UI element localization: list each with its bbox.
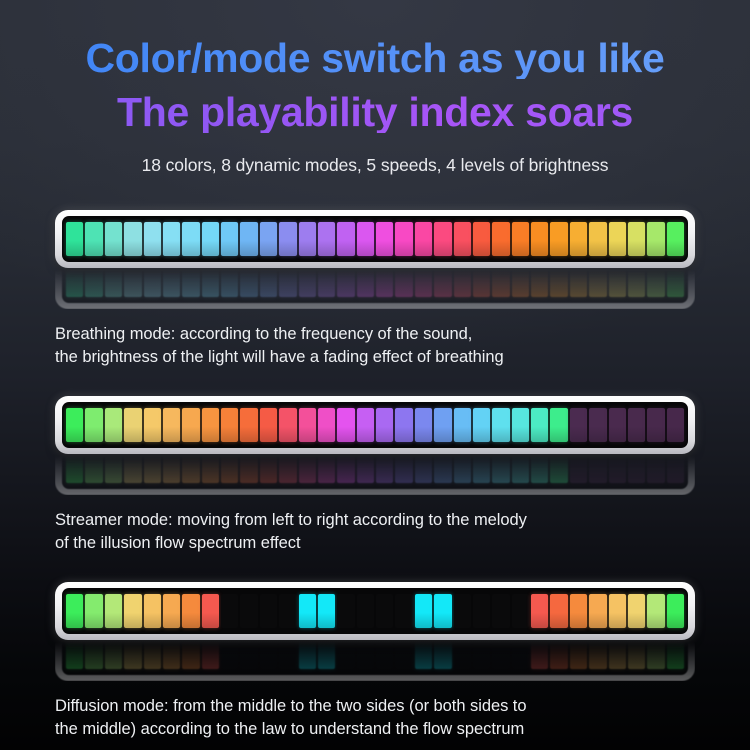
led-segment bbox=[299, 455, 316, 483]
led-segment bbox=[85, 594, 102, 628]
led-bar-frame bbox=[55, 582, 695, 640]
led-segment bbox=[628, 269, 645, 297]
led-segment bbox=[395, 641, 412, 669]
headline-secondary: The playability index soars bbox=[0, 92, 750, 133]
mode-caption-breathing: Breathing mode: according to the frequen… bbox=[55, 323, 695, 370]
led-segment bbox=[415, 408, 432, 442]
led-segment bbox=[144, 269, 161, 297]
feature-subtitle: 18 colors, 8 dynamic modes, 5 speeds, 4 … bbox=[0, 155, 750, 176]
led-segment bbox=[589, 641, 606, 669]
led-segment bbox=[144, 408, 161, 442]
led-segment bbox=[182, 455, 199, 483]
led-segment bbox=[492, 594, 509, 628]
led-segment bbox=[647, 594, 664, 628]
led-segment bbox=[240, 594, 257, 628]
led-segment bbox=[240, 641, 257, 669]
led-segment bbox=[376, 408, 393, 442]
led-segment bbox=[260, 641, 277, 669]
mode-caption-diffusion: Diffusion mode: from the middle to the t… bbox=[55, 695, 695, 742]
led-segment bbox=[628, 455, 645, 483]
led-segment bbox=[299, 269, 316, 297]
led-segment bbox=[434, 408, 451, 442]
led-segment bbox=[163, 594, 180, 628]
led-segment bbox=[609, 269, 626, 297]
led-segment bbox=[279, 408, 296, 442]
led-segment bbox=[163, 222, 180, 256]
led-segment bbox=[647, 408, 664, 442]
led-segment bbox=[473, 641, 490, 669]
led-segment bbox=[105, 222, 122, 256]
led-segment bbox=[550, 594, 567, 628]
led-segment bbox=[202, 594, 219, 628]
led-segment bbox=[531, 594, 548, 628]
led-segment bbox=[85, 408, 102, 442]
led-segment bbox=[163, 408, 180, 442]
led-segment bbox=[337, 408, 354, 442]
led-segment bbox=[628, 641, 645, 669]
led-segment bbox=[318, 594, 335, 628]
led-bar-reflection bbox=[55, 641, 695, 681]
led-segment bbox=[454, 222, 471, 256]
led-segment bbox=[260, 269, 277, 297]
led-segment bbox=[628, 222, 645, 256]
led-segment bbox=[647, 269, 664, 297]
led-segment bbox=[279, 455, 296, 483]
led-segment bbox=[395, 408, 412, 442]
led-segment bbox=[570, 641, 587, 669]
led-segment bbox=[299, 222, 316, 256]
led-bar-frame-mirror bbox=[55, 269, 695, 309]
led-segment bbox=[66, 269, 83, 297]
led-segment bbox=[531, 455, 548, 483]
led-segment bbox=[124, 641, 141, 669]
led-segment bbox=[473, 594, 490, 628]
led-segment bbox=[454, 455, 471, 483]
led-segment bbox=[415, 455, 432, 483]
led-segment bbox=[609, 408, 626, 442]
led-segment bbox=[202, 641, 219, 669]
led-segment bbox=[492, 222, 509, 256]
led-segment bbox=[105, 641, 122, 669]
led-segment bbox=[415, 269, 432, 297]
led-segment bbox=[550, 408, 567, 442]
led-bar-frame bbox=[55, 210, 695, 268]
led-segment bbox=[609, 594, 626, 628]
led-segment bbox=[531, 222, 548, 256]
led-segment bbox=[609, 222, 626, 256]
led-segment-strip bbox=[62, 216, 688, 262]
led-segment bbox=[240, 269, 257, 297]
led-segment bbox=[105, 594, 122, 628]
led-segment bbox=[318, 222, 335, 256]
led-segment bbox=[395, 455, 412, 483]
led-segment bbox=[144, 641, 161, 669]
led-segment bbox=[376, 455, 393, 483]
led-segment bbox=[415, 641, 432, 669]
led-segment bbox=[589, 455, 606, 483]
led-segment bbox=[85, 641, 102, 669]
led-segment bbox=[66, 455, 83, 483]
led-segment bbox=[454, 594, 471, 628]
led-segment bbox=[66, 222, 83, 256]
led-segment bbox=[66, 594, 83, 628]
led-segment bbox=[144, 594, 161, 628]
led-segment bbox=[609, 641, 626, 669]
led-segment bbox=[512, 455, 529, 483]
led-segment bbox=[105, 408, 122, 442]
led-segment bbox=[492, 408, 509, 442]
led-segment bbox=[85, 222, 102, 256]
led-segment bbox=[434, 269, 451, 297]
led-segment bbox=[492, 641, 509, 669]
led-segment bbox=[550, 222, 567, 256]
led-segment bbox=[221, 641, 238, 669]
led-segment bbox=[66, 408, 83, 442]
headline-primary: Color/mode switch as you like bbox=[0, 38, 750, 79]
led-segment bbox=[66, 641, 83, 669]
led-segment bbox=[667, 594, 684, 628]
led-segment bbox=[221, 269, 238, 297]
header: Color/mode switch as you like The playab… bbox=[0, 0, 750, 176]
led-bar-reflection bbox=[55, 269, 695, 309]
led-segment bbox=[570, 408, 587, 442]
led-segment bbox=[260, 408, 277, 442]
led-segment bbox=[85, 269, 102, 297]
led-segment bbox=[531, 641, 548, 669]
led-segment bbox=[531, 269, 548, 297]
led-segment bbox=[124, 269, 141, 297]
led-segment bbox=[434, 641, 451, 669]
led-segment bbox=[182, 222, 199, 256]
led-segment bbox=[318, 408, 335, 442]
led-segment bbox=[473, 408, 490, 442]
led-segment bbox=[337, 594, 354, 628]
led-segment bbox=[337, 641, 354, 669]
led-segment bbox=[667, 641, 684, 669]
led-segment bbox=[318, 269, 335, 297]
led-segment bbox=[434, 222, 451, 256]
led-segment bbox=[395, 269, 412, 297]
led-segment bbox=[550, 641, 567, 669]
led-segment bbox=[202, 222, 219, 256]
led-segment bbox=[647, 641, 664, 669]
led-segment bbox=[202, 408, 219, 442]
led-segment bbox=[570, 222, 587, 256]
led-segment bbox=[182, 408, 199, 442]
led-segment bbox=[512, 594, 529, 628]
led-segment bbox=[240, 455, 257, 483]
led-segment bbox=[221, 455, 238, 483]
led-segment bbox=[260, 594, 277, 628]
led-segment bbox=[260, 222, 277, 256]
led-segment-strip-mirror bbox=[62, 269, 688, 303]
mode-diffusion: Diffusion mode: from the middle to the t… bbox=[0, 582, 750, 742]
led-segment bbox=[124, 594, 141, 628]
led-segment bbox=[105, 269, 122, 297]
led-bar-breathing bbox=[55, 210, 695, 268]
led-segment bbox=[376, 641, 393, 669]
led-segment bbox=[279, 641, 296, 669]
led-segment bbox=[570, 269, 587, 297]
led-segment bbox=[202, 269, 219, 297]
led-segment bbox=[395, 222, 412, 256]
led-segment bbox=[667, 269, 684, 297]
led-segment bbox=[473, 222, 490, 256]
mode-streamer: Streamer mode: moving from left to right… bbox=[0, 396, 750, 556]
led-segment bbox=[512, 222, 529, 256]
led-segment bbox=[318, 455, 335, 483]
led-bar-frame-mirror bbox=[55, 641, 695, 681]
led-segment bbox=[454, 641, 471, 669]
led-segment bbox=[550, 269, 567, 297]
led-segment bbox=[202, 455, 219, 483]
led-segment bbox=[357, 594, 374, 628]
led-segment bbox=[647, 455, 664, 483]
led-segment bbox=[124, 455, 141, 483]
led-segment bbox=[589, 222, 606, 256]
led-segment bbox=[550, 455, 567, 483]
led-segment bbox=[337, 222, 354, 256]
led-segment bbox=[240, 408, 257, 442]
led-bar-diffusion bbox=[55, 582, 695, 640]
led-segment bbox=[512, 408, 529, 442]
led-segment bbox=[182, 269, 199, 297]
led-bar-frame bbox=[55, 396, 695, 454]
mode-breathing: Breathing mode: according to the frequen… bbox=[0, 210, 750, 370]
led-bar-frame-mirror bbox=[55, 455, 695, 495]
led-segment-strip bbox=[62, 588, 688, 634]
led-bar-reflection bbox=[55, 455, 695, 495]
led-segment bbox=[357, 222, 374, 256]
led-segment bbox=[473, 455, 490, 483]
led-segment bbox=[85, 455, 102, 483]
led-segment bbox=[531, 408, 548, 442]
led-segment bbox=[434, 594, 451, 628]
led-segment bbox=[124, 408, 141, 442]
led-segment bbox=[589, 594, 606, 628]
led-bar-streamer bbox=[55, 396, 695, 454]
led-segment bbox=[279, 594, 296, 628]
led-segment bbox=[376, 269, 393, 297]
led-segment bbox=[473, 269, 490, 297]
led-segment bbox=[357, 269, 374, 297]
led-segment bbox=[667, 455, 684, 483]
led-segment bbox=[454, 269, 471, 297]
led-segment bbox=[492, 455, 509, 483]
led-segment bbox=[221, 222, 238, 256]
led-segment bbox=[182, 641, 199, 669]
led-segment bbox=[124, 222, 141, 256]
led-segment bbox=[240, 222, 257, 256]
led-segment bbox=[357, 641, 374, 669]
led-segment bbox=[144, 222, 161, 256]
led-segment bbox=[337, 269, 354, 297]
led-segment bbox=[628, 594, 645, 628]
led-segment bbox=[299, 594, 316, 628]
led-segment bbox=[279, 269, 296, 297]
led-segment bbox=[337, 455, 354, 483]
led-segment bbox=[144, 455, 161, 483]
mode-caption-streamer: Streamer mode: moving from left to right… bbox=[55, 509, 695, 556]
led-segment bbox=[105, 455, 122, 483]
product-infographic: Color/mode switch as you like The playab… bbox=[0, 0, 750, 750]
led-segment bbox=[163, 455, 180, 483]
led-segment bbox=[299, 408, 316, 442]
led-segment bbox=[589, 408, 606, 442]
led-segment bbox=[667, 408, 684, 442]
led-segment bbox=[647, 222, 664, 256]
led-segment bbox=[415, 222, 432, 256]
led-segment bbox=[299, 641, 316, 669]
led-segment bbox=[260, 455, 277, 483]
mode-list: Breathing mode: according to the frequen… bbox=[0, 210, 750, 742]
led-segment bbox=[376, 594, 393, 628]
led-segment bbox=[221, 594, 238, 628]
led-segment bbox=[318, 641, 335, 669]
led-segment bbox=[182, 594, 199, 628]
led-segment bbox=[570, 594, 587, 628]
led-segment bbox=[415, 594, 432, 628]
led-segment bbox=[279, 222, 296, 256]
led-segment bbox=[628, 408, 645, 442]
led-segment bbox=[221, 408, 238, 442]
led-segment bbox=[163, 641, 180, 669]
led-segment bbox=[589, 269, 606, 297]
led-segment-strip-mirror bbox=[62, 455, 688, 489]
led-segment bbox=[357, 408, 374, 442]
led-segment bbox=[454, 408, 471, 442]
led-segment bbox=[512, 641, 529, 669]
led-segment bbox=[395, 594, 412, 628]
led-segment-strip-mirror bbox=[62, 641, 688, 675]
led-segment bbox=[163, 269, 180, 297]
led-segment-strip bbox=[62, 402, 688, 448]
led-segment bbox=[376, 222, 393, 256]
led-segment bbox=[609, 455, 626, 483]
led-segment bbox=[357, 455, 374, 483]
led-segment bbox=[512, 269, 529, 297]
led-segment bbox=[570, 455, 587, 483]
led-segment bbox=[492, 269, 509, 297]
led-segment bbox=[434, 455, 451, 483]
led-segment bbox=[667, 222, 684, 256]
